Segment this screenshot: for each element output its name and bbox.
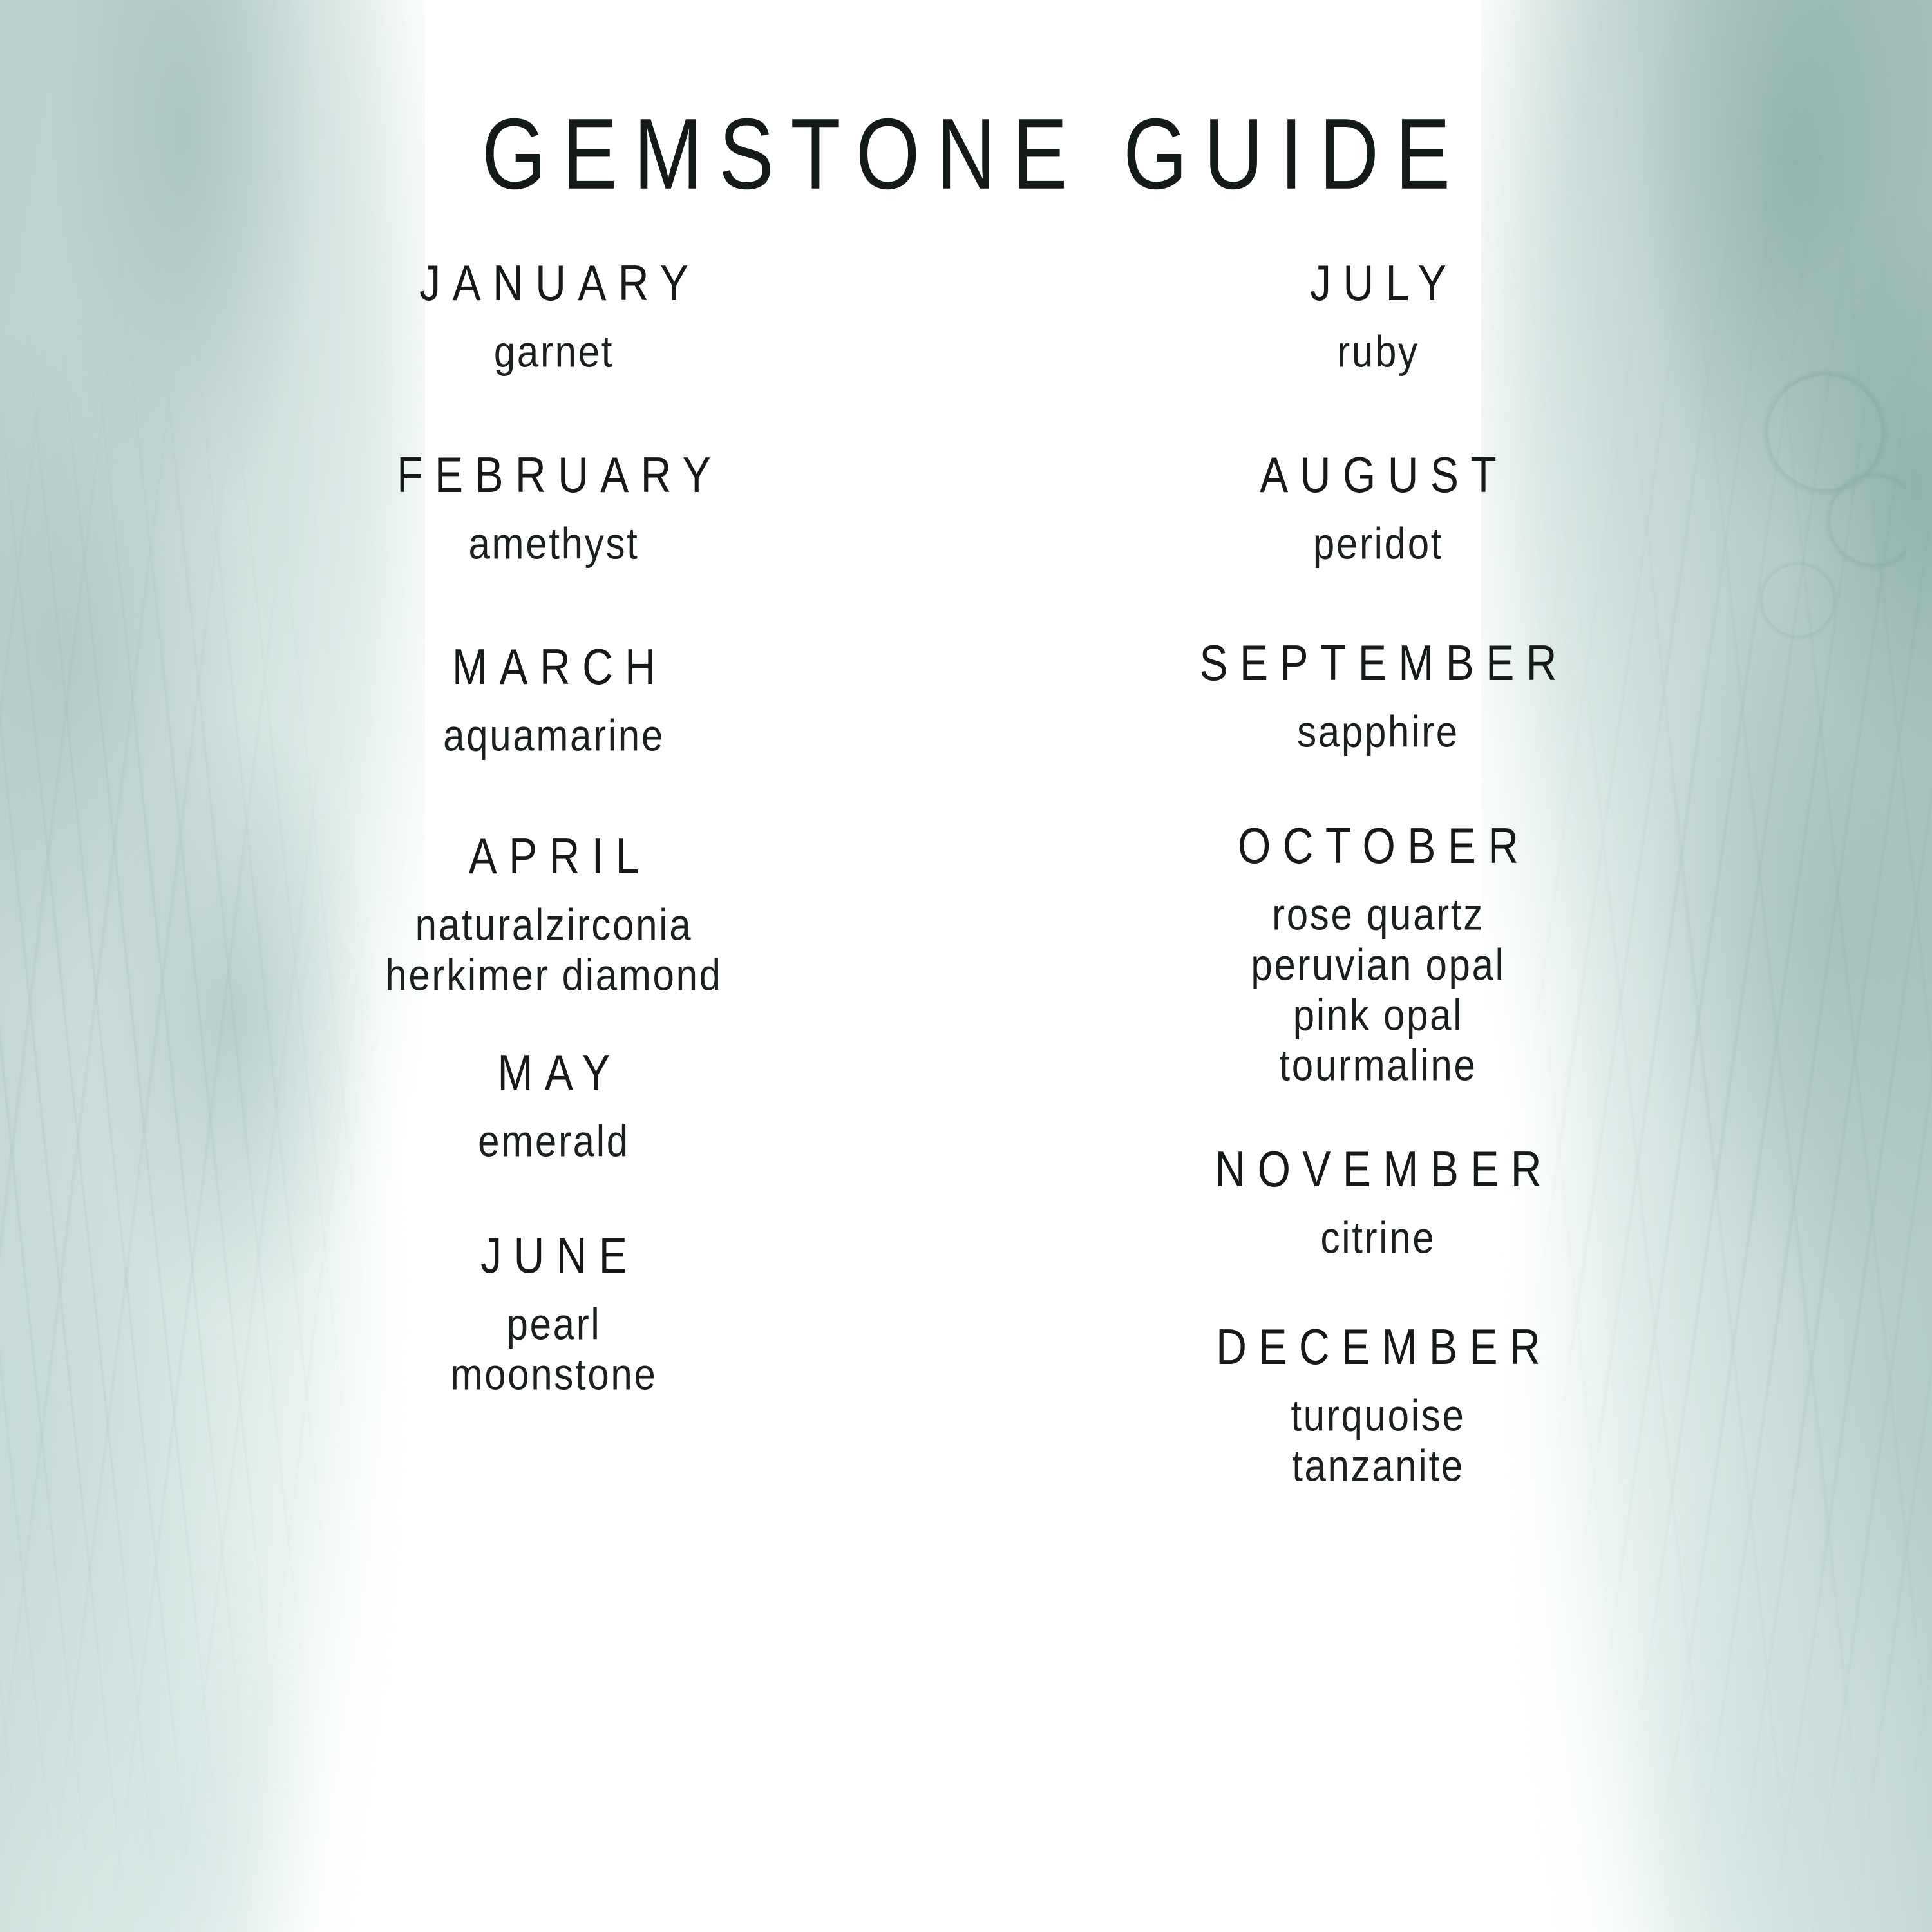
stone-list: emerald — [213, 1113, 895, 1163]
stone-name: peridot — [1037, 515, 1719, 573]
month-entry-january: JANUARYgarnet — [213, 258, 895, 374]
month-name: JANUARY — [213, 258, 895, 308]
stone-list: turquoisetanzanite — [1037, 1387, 1719, 1488]
month-entry-august: AUGUSTperidot — [1037, 450, 1719, 565]
month-name: AUGUST — [1037, 450, 1719, 500]
gemstone-guide-poster: GEMSTONE GUIDE JANUARYgarnetFEBRUARYamet… — [0, 0, 1932, 1932]
stone-name: peruvian opal — [1037, 936, 1719, 994]
month-name: OCTOBER — [1037, 820, 1719, 871]
month-entry-march: MARCHaquamarine — [213, 641, 895, 757]
stone-name: pearl — [213, 1296, 895, 1353]
stone-list: ruby — [1037, 323, 1719, 374]
month-name: NOVEMBER — [1037, 1144, 1719, 1194]
stone-name: citrine — [1037, 1209, 1719, 1267]
stone-name: sapphire — [1037, 703, 1719, 761]
poster-content: GEMSTONE GUIDE JANUARYgarnetFEBRUARYamet… — [0, 0, 1932, 1932]
stone-name: garnet — [213, 323, 895, 381]
month-columns: JANUARYgarnetFEBRUARYamethystMARCHaquama… — [213, 258, 1719, 1488]
month-name: SEPTEMBER — [1037, 638, 1719, 688]
month-entry-june: JUNEpearlmoonstone — [213, 1230, 895, 1396]
stone-list: peridot — [1037, 515, 1719, 565]
stone-name: rose quartz — [1037, 886, 1719, 943]
month-entry-july: JULYruby — [1037, 258, 1719, 374]
month-name: DECEMBER — [1037, 1321, 1719, 1372]
left-column: JANUARYgarnetFEBRUARYamethystMARCHaquama… — [213, 258, 895, 1488]
month-name: MAY — [213, 1047, 895, 1097]
month-entry-november: NOVEMBERcitrine — [1037, 1144, 1719, 1260]
page-title: GEMSTONE GUIDE — [0, 97, 1932, 212]
stone-name: pink opal — [1037, 987, 1719, 1044]
stone-name: moonstone — [213, 1346, 895, 1403]
month-entry-april: APRILnaturalzirconiaherkimer diamond — [213, 831, 895, 997]
stone-list: pearlmoonstone — [213, 1296, 895, 1396]
stone-name: naturalzirconia — [213, 896, 895, 954]
month-name: FEBRUARY — [213, 450, 895, 500]
month-entry-may: MAYemerald — [213, 1047, 895, 1163]
stone-list: sapphire — [1037, 703, 1719, 753]
month-name: APRIL — [213, 831, 895, 881]
stone-name: aquamarine — [213, 707, 895, 764]
right-column: JULYrubyAUGUSTperidotSEPTEMBERsapphireOC… — [1037, 258, 1719, 1488]
month-entry-december: DECEMBERturquoisetanzanite — [1037, 1321, 1719, 1488]
stone-name: amethyst — [213, 515, 895, 573]
stone-name: tourmaline — [1037, 1037, 1719, 1094]
stone-name: ruby — [1037, 323, 1719, 381]
month-name: MARCH — [213, 641, 895, 692]
stone-list: amethyst — [213, 515, 895, 565]
stone-name: herkimer diamond — [213, 947, 895, 1004]
month-entry-september: SEPTEMBERsapphire — [1037, 638, 1719, 753]
month-entry-february: FEBRUARYamethyst — [213, 450, 895, 565]
stone-list: rose quartzperuvian opalpink opaltourmal… — [1037, 886, 1719, 1087]
stone-name: turquoise — [1037, 1387, 1719, 1444]
month-name: JUNE — [213, 1230, 895, 1280]
stone-list: aquamarine — [213, 707, 895, 757]
stone-name: tanzanite — [1037, 1437, 1719, 1495]
stone-list: citrine — [1037, 1209, 1719, 1260]
month-name: JULY — [1037, 258, 1719, 308]
stone-name: emerald — [213, 1113, 895, 1170]
stone-list: naturalzirconiaherkimer diamond — [213, 896, 895, 997]
month-entry-october: OCTOBERrose quartzperuvian opalpink opal… — [1037, 820, 1719, 1087]
stone-list: garnet — [213, 323, 895, 374]
